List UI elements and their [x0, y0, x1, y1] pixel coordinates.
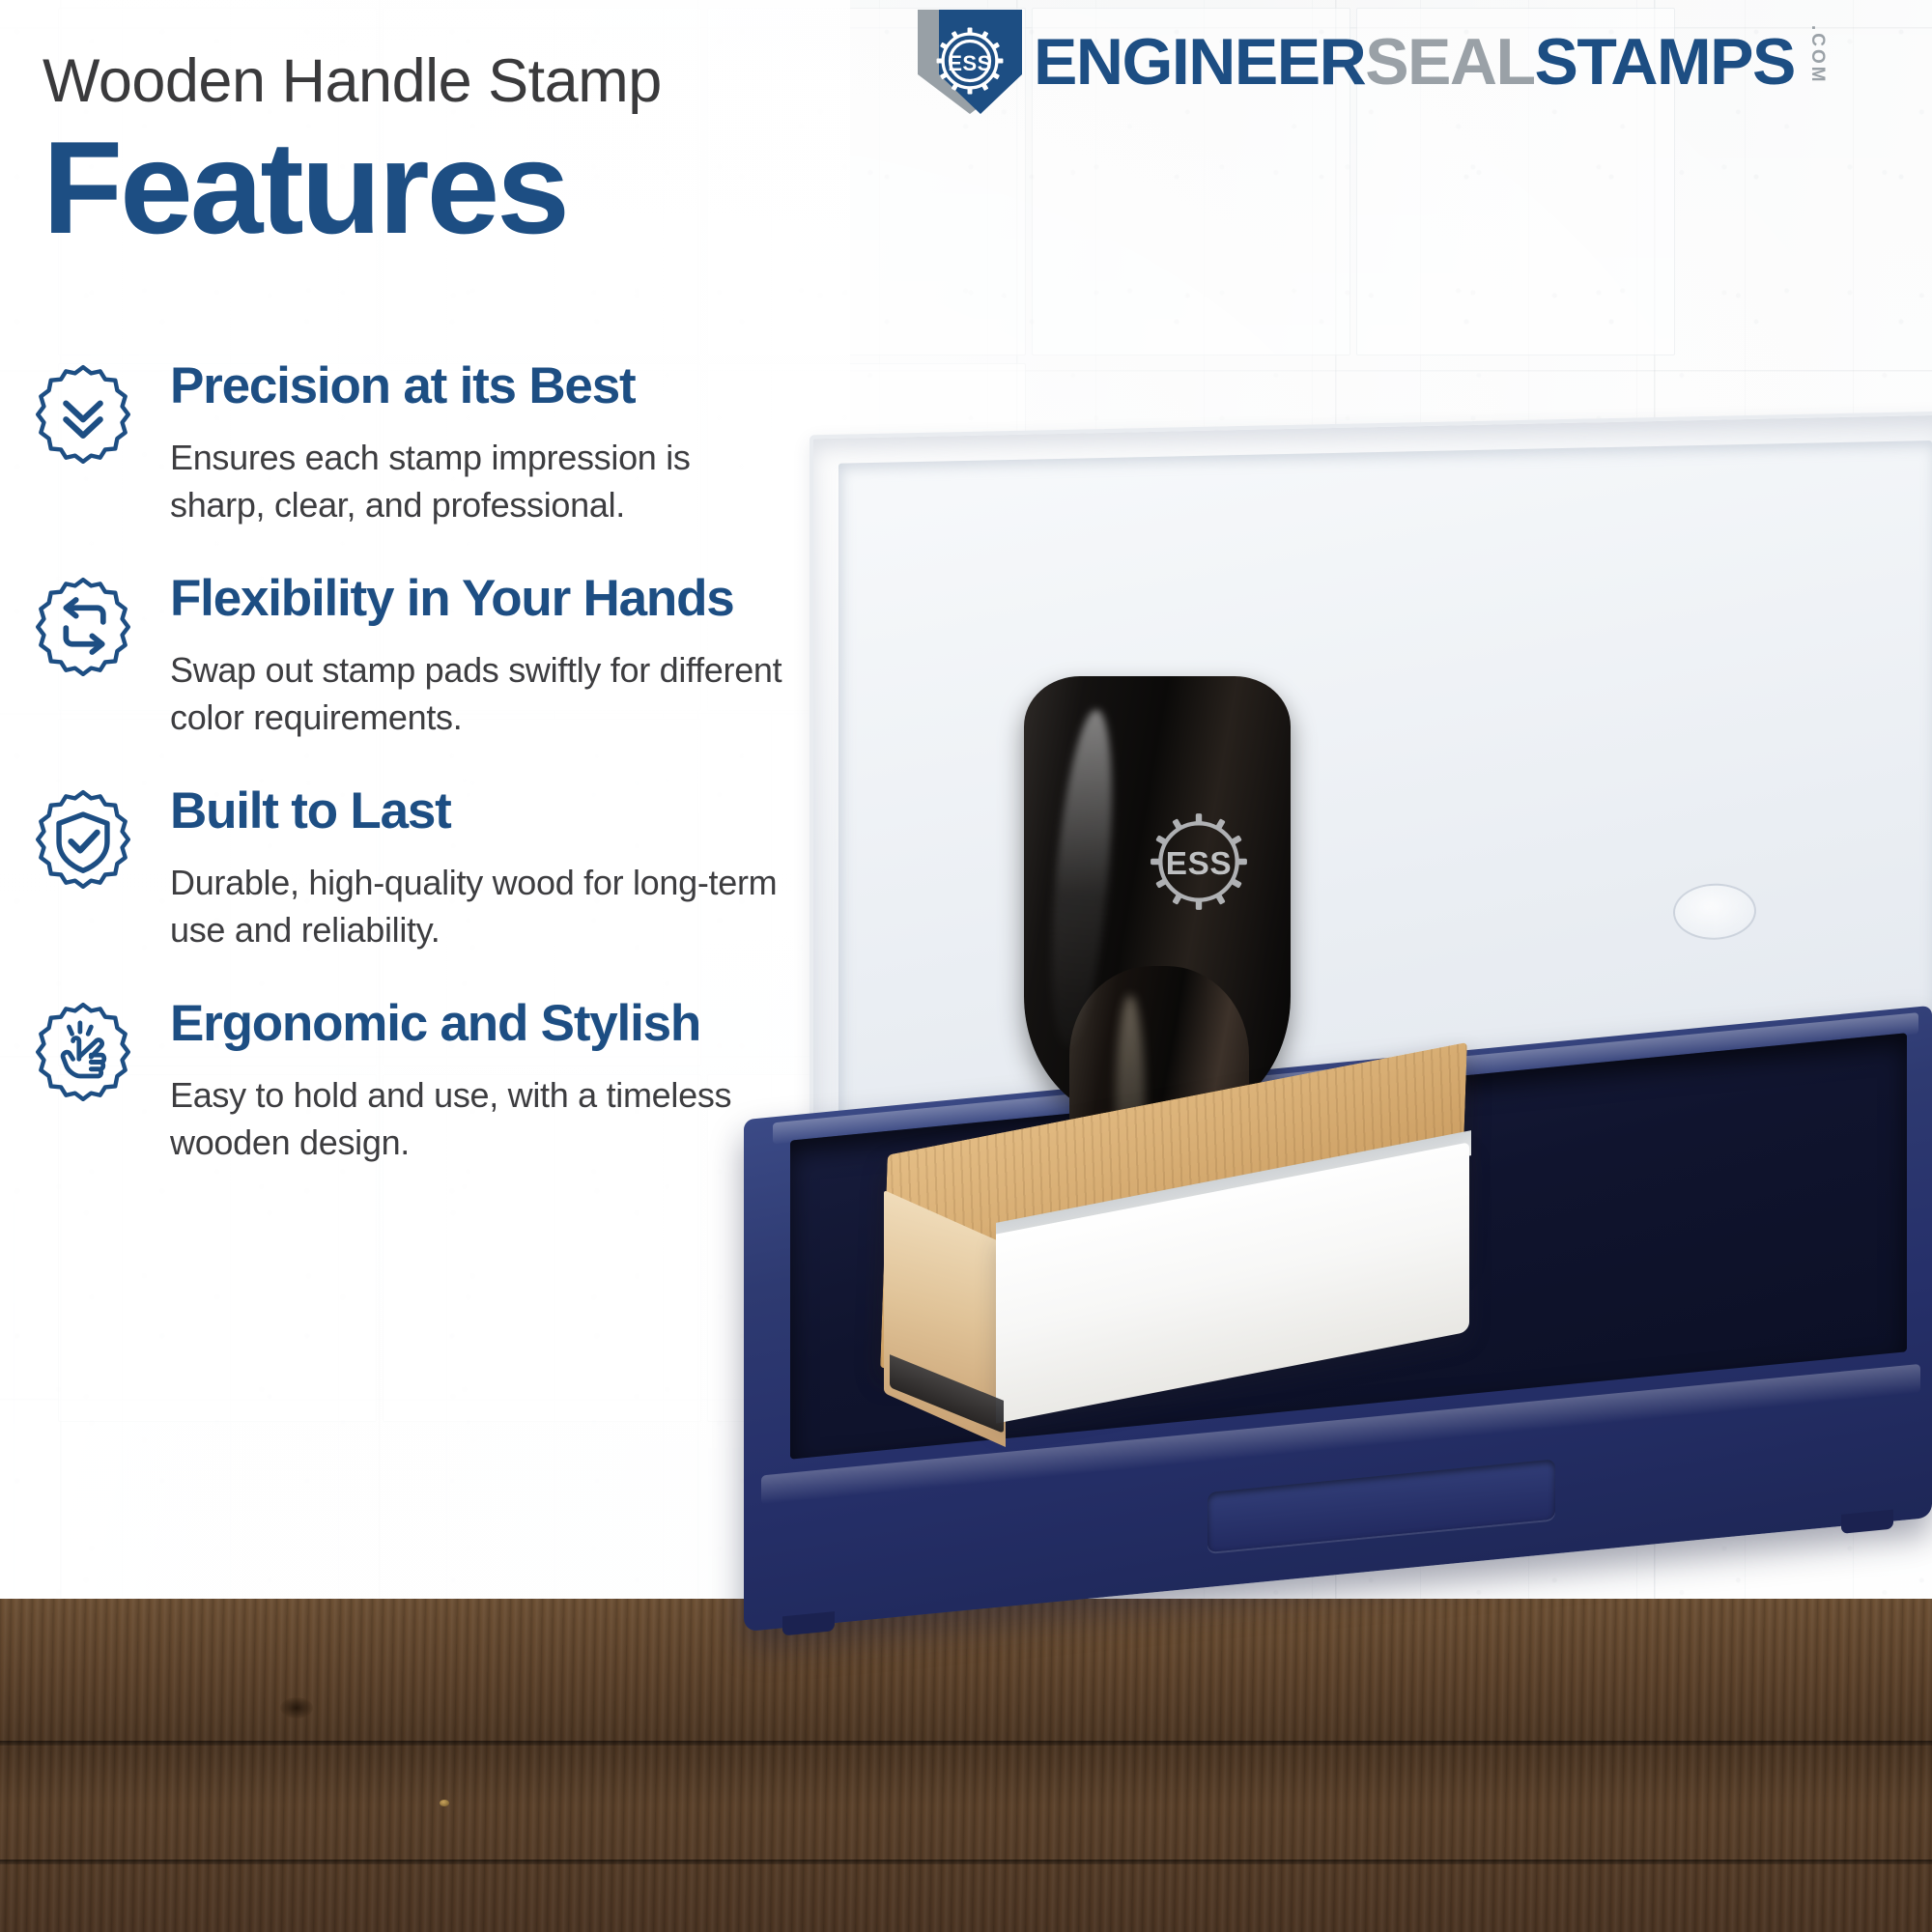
brand-name-seal: SEAL [1365, 29, 1534, 95]
product-feature-infographic: Wooden Handle Stamp Features [0, 0, 1932, 1932]
feature-title: Ergonomic and Stylish [170, 997, 825, 1051]
wooden-handle-stamp: ESS [826, 676, 1541, 1430]
brand-name-engineer: ENGINEER [1034, 29, 1365, 95]
brand-logo[interactable]: ESS ENGINEERSEALSTAMPS .COM [918, 10, 1828, 114]
badge-shield-check-icon [33, 788, 133, 889]
feature-item: Ergonomic and Stylish Easy to hold and u… [33, 997, 825, 1167]
badge-pointing-hand-icon [33, 1001, 133, 1101]
wood-knot [280, 1697, 313, 1719]
feature-description: Easy to hold and use, with a timeless wo… [170, 1072, 788, 1167]
brand-name-stamps: STAMPS [1535, 29, 1795, 95]
feature-description: Swap out stamp pads swiftly for differen… [170, 647, 788, 742]
svg-text:ESS: ESS [1166, 846, 1232, 882]
brand-tld: .COM [1806, 25, 1828, 85]
feature-item: Flexibility in Your Hands Swap out stamp… [33, 572, 825, 742]
ess-gear-icon: ESS [1137, 800, 1261, 923]
wood-nail [440, 1800, 449, 1806]
page-title: Features [43, 122, 567, 253]
feature-description: Ensures each stamp impression is sharp, … [170, 435, 788, 529]
svg-text:ESS: ESS [948, 51, 992, 75]
case-thumb-notch [1207, 1459, 1555, 1552]
case-foot [1841, 1510, 1893, 1534]
ess-shield-icon: ESS [918, 10, 1022, 114]
page-subtitle: Wooden Handle Stamp [43, 46, 662, 116]
feature-item: Precision at its Best Ensures each stamp… [33, 359, 825, 529]
badge-swap-arrows-icon [33, 576, 133, 676]
feature-item: Built to Last Durable, high-quality wood… [33, 784, 825, 954]
feature-title: Built to Last [170, 784, 825, 838]
badge-double-chevron-down-icon [33, 363, 133, 464]
feature-list: Precision at its Best Ensures each stamp… [33, 359, 825, 1167]
feature-title: Flexibility in Your Hands [170, 572, 825, 626]
case-foot [782, 1611, 835, 1635]
product-photo: ESS [734, 386, 1932, 1932]
feature-title: Precision at its Best [170, 359, 825, 413]
feature-description: Durable, high-quality wood for long-term… [170, 860, 788, 954]
